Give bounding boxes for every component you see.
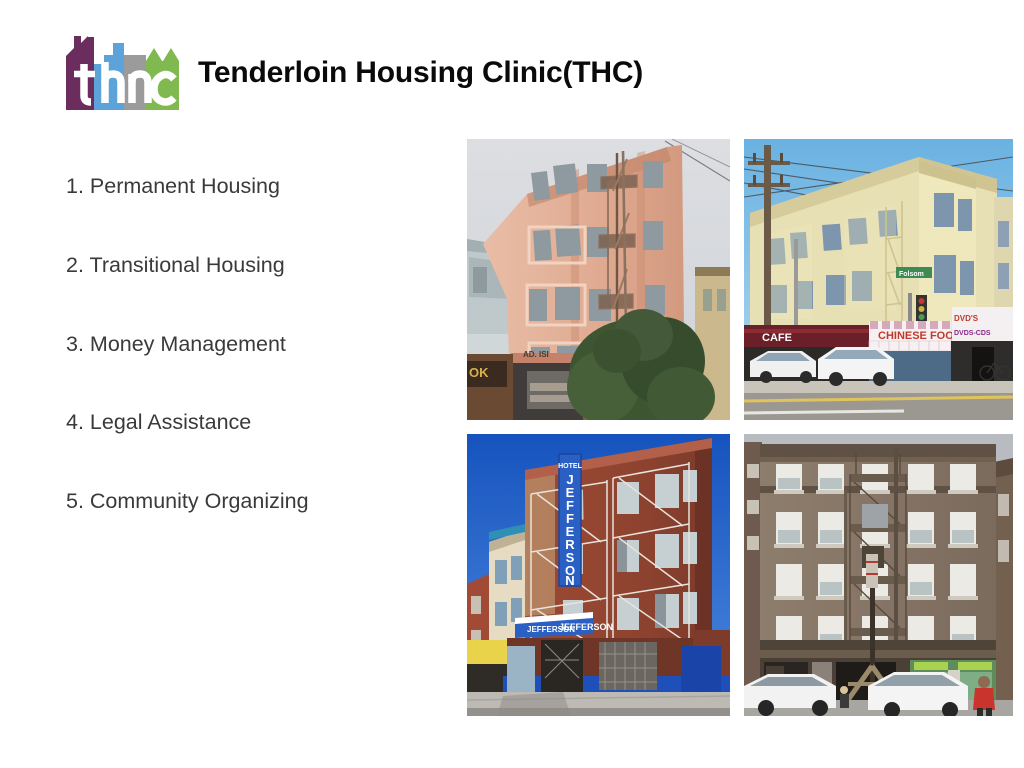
list-item: 3. Money Management [66, 332, 446, 358]
photo-hotel-jefferson: HOTEL JEF FER SON JEFFERSON JEFFERSON [467, 434, 730, 716]
thc-logo [64, 34, 182, 112]
list-item: 1. Permanent Housing [66, 174, 446, 200]
list-item: 2. Transitional Housing [66, 253, 446, 279]
cafe-sign-text: CAFE [762, 332, 792, 344]
slide-canvas: Tenderloin Housing Clinic(THC) 1. Perman… [0, 0, 1024, 768]
list-item: 5. Community Organizing [66, 489, 446, 515]
chinese-food-sign-text: CHINESE FOOD [878, 330, 962, 342]
photo-brown-sro-building [744, 434, 1013, 716]
svg-text:DVD'S: DVD'S [954, 314, 979, 323]
worker [840, 686, 849, 708]
svg-text:OK: OK [469, 365, 489, 380]
svg-text:N: N [565, 573, 574, 588]
svg-text:DVDS-CDS: DVDS-CDS [954, 330, 991, 337]
hotel-vertical-sign: HOTEL JEF FER SON [558, 454, 582, 588]
photo-grid: AD. ISI OK [467, 139, 1013, 716]
street-sign-text: Folsom [899, 271, 924, 278]
svg-text:JEFFERSON: JEFFERSON [559, 622, 613, 632]
list-item: 4. Legal Assistance [66, 410, 446, 436]
parked-car [868, 672, 968, 716]
photo-cream-corner-building: Folsom CAFE [744, 139, 1013, 420]
agenda-list: 1. Permanent Housing 2. Transitional Hou… [66, 174, 446, 568]
svg-text:HOTEL: HOTEL [558, 463, 582, 470]
photo-salmon-victorian-apartment: AD. ISI OK [467, 139, 730, 420]
slide-header: Tenderloin Housing Clinic(THC) [64, 34, 643, 112]
page-title: Tenderloin Housing Clinic(THC) [198, 58, 643, 88]
storefront-sign-text: AD. ISI [523, 350, 549, 359]
